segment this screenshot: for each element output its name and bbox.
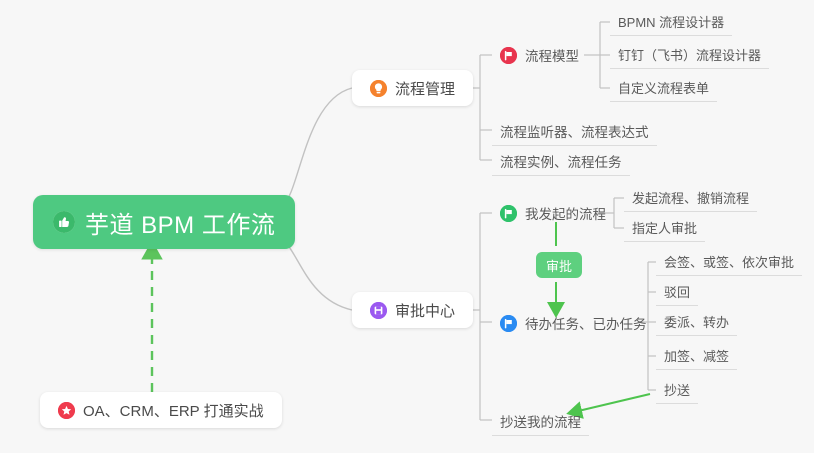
sub-label-process-model: 流程模型 <box>525 45 579 65</box>
root-node[interactable]: 芋道 BPM 工作流 <box>33 195 295 249</box>
sub-node-process-instance[interactable]: 流程实例、流程任务 <box>492 146 630 176</box>
sub-label-cc-to-me: 抄送我的流程 <box>500 411 581 431</box>
leaf-label-start-cancel-process: 发起流程、撤销流程 <box>632 188 749 207</box>
branch-label-approval-center: 审批中心 <box>395 300 455 321</box>
flag-icon <box>500 205 517 222</box>
leaf-label-multi-approval: 会签、或签、依次审批 <box>664 252 794 271</box>
wire-root-to-approval-center <box>283 240 352 310</box>
leaf-node-start-cancel-process[interactable]: 发起流程、撤销流程 <box>624 184 757 212</box>
leaf-node-dingtalk-feishu-designer[interactable]: 钉钉（飞书）流程设计器 <box>610 41 769 69</box>
leaf-node-cc[interactable]: 抄送 <box>656 376 698 404</box>
leaf-node-add-remove-sign[interactable]: 加签、减签 <box>656 342 737 370</box>
integration-note-label: OA、CRM、ERP 打通实战 <box>83 400 264 421</box>
flag-icon <box>500 47 517 64</box>
flag-icon <box>500 315 517 332</box>
sub-label-my-initiated-process: 我发起的流程 <box>525 203 606 223</box>
sub-node-cc-to-me[interactable]: 抄送我的流程 <box>492 406 589 436</box>
sub-label-todo-done-tasks: 待办任务、已办任务 <box>525 313 647 333</box>
branch-node-process-management[interactable]: 流程管理 <box>352 70 473 106</box>
approval-tag-label: 审批 <box>546 256 572 275</box>
leaf-label-dingtalk-feishu-designer: 钉钉（飞书）流程设计器 <box>618 45 761 64</box>
thumbs-up-icon <box>53 211 75 233</box>
leaf-label-cc: 抄送 <box>664 380 690 399</box>
document-icon <box>370 302 387 319</box>
leaf-label-assignee-approval: 指定人审批 <box>632 218 697 237</box>
sub-node-my-initiated-process[interactable]: 我发起的流程 <box>492 198 614 228</box>
integration-note-node[interactable]: OA、CRM、ERP 打通实战 <box>40 392 282 428</box>
leaf-label-custom-process-form: 自定义流程表单 <box>618 78 709 97</box>
leaf-label-add-remove-sign: 加签、减签 <box>664 346 729 365</box>
leaf-node-reject[interactable]: 驳回 <box>656 278 698 306</box>
root-label: 芋道 BPM 工作流 <box>85 205 275 240</box>
leaf-label-bpmn-designer: BPMN 流程设计器 <box>618 12 724 31</box>
leaf-label-delegate-transfer: 委派、转办 <box>664 312 729 331</box>
leaf-label-reject: 驳回 <box>664 282 690 301</box>
sub-label-process-listener: 流程监听器、流程表达式 <box>500 121 649 141</box>
sub-node-todo-done-tasks[interactable]: 待办任务、已办任务 <box>492 308 655 338</box>
branch-node-approval-center[interactable]: 审批中心 <box>352 292 473 328</box>
wire-root-to-process-management <box>283 88 352 205</box>
leaf-node-assignee-approval[interactable]: 指定人审批 <box>624 214 705 242</box>
leaf-node-delegate-transfer[interactable]: 委派、转办 <box>656 308 737 336</box>
leaf-node-bpmn-designer[interactable]: BPMN 流程设计器 <box>610 8 732 36</box>
leaf-node-custom-process-form[interactable]: 自定义流程表单 <box>610 74 717 102</box>
approval-tag[interactable]: 审批 <box>536 252 582 278</box>
star-icon <box>58 402 75 419</box>
lightbulb-icon <box>370 80 387 97</box>
mindmap-canvas: 芋道 BPM 工作流 流程管理 流程模型 BPMN 流程设计器 钉钉（飞书）流程… <box>0 0 814 453</box>
leaf-node-multi-approval[interactable]: 会签、或签、依次审批 <box>656 248 802 276</box>
sub-node-process-model[interactable]: 流程模型 <box>492 40 587 70</box>
sub-node-process-listener[interactable]: 流程监听器、流程表达式 <box>492 116 657 146</box>
branch-label-process-management: 流程管理 <box>395 78 455 99</box>
sub-label-process-instance: 流程实例、流程任务 <box>500 151 622 171</box>
